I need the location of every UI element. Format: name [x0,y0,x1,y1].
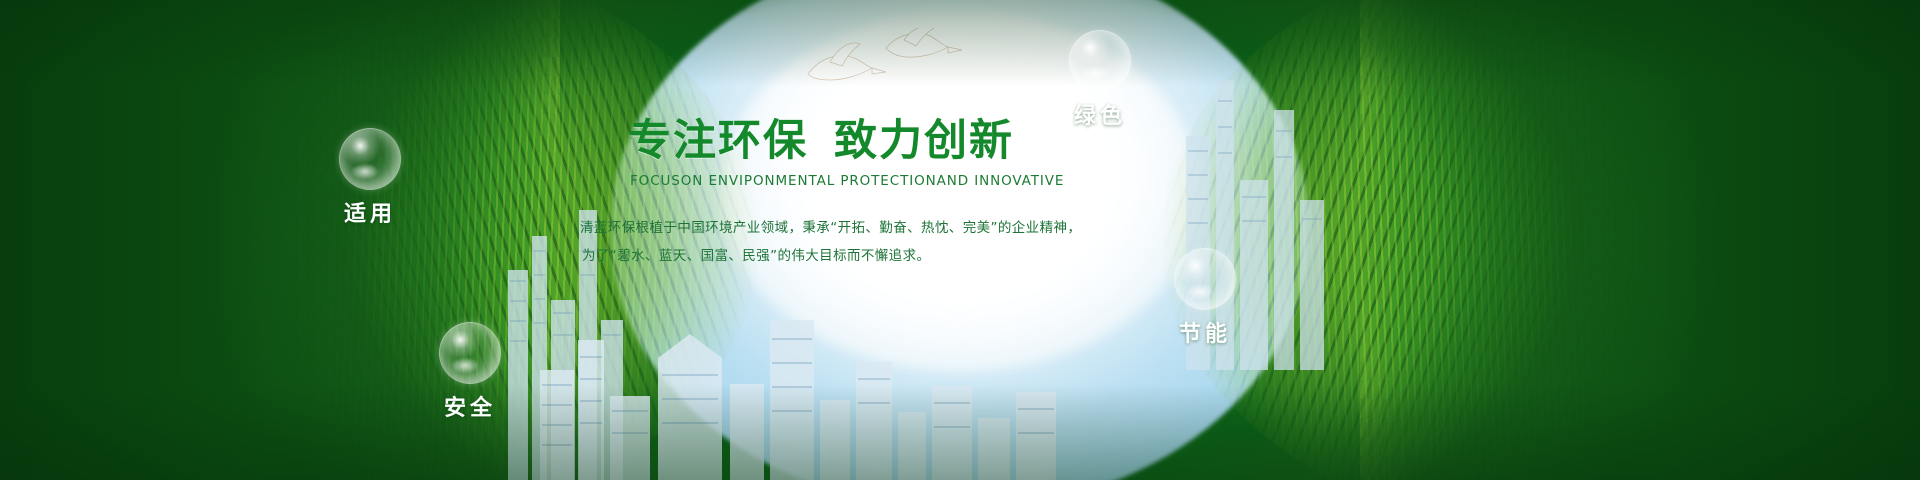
page-title: 专注环保致力创新 [580,118,1040,164]
paragraph-line-1: 清蓝环保根植于中国环境产业领域，秉承“开拓、勤奋、热忱、完美”的企业精神， [580,215,1040,243]
paragraph-line-2: 为了“碧水、蓝天、国富、民强”的伟大目标而不懈追求。 [580,243,1040,271]
bubble-icon [1069,30,1131,92]
bubble-icon [339,128,401,190]
hero-banner: 专注环保致力创新 FOCUSON ENVIPONMENTAL PROTECTIO… [0,0,1920,480]
feature-anquan[interactable]: 安全 [400,322,540,422]
feature-shiyong[interactable]: 适用 [300,128,440,228]
banner-paragraph: 清蓝环保根植于中国环境产业领域，秉承“开拓、勤奋、热忱、完美”的企业精神， 为了… [580,215,1040,270]
city-skyline-center [540,300,1060,480]
headline-part-1: 专注环保 [628,116,808,166]
banner-copy: 专注环保致力创新 FOCUSON ENVIPONMENTAL PROTECTIO… [580,118,1040,271]
feature-lvse[interactable]: 绿色 [1030,30,1170,130]
feature-label: 安全 [400,390,540,422]
feature-label: 适用 [300,196,440,228]
bubble-icon [439,322,501,384]
feature-label: 节能 [1135,316,1275,348]
doves-icon [800,28,970,108]
bubble-icon [1174,248,1236,310]
feature-label: 绿色 [1030,98,1170,130]
headline-part-2: 致力创新 [834,116,1014,166]
page-subtitle: FOCUSON ENVIPONMENTAL PROTECTIONAND INNO… [580,173,1040,189]
feature-jieneng[interactable]: 节能 [1135,248,1275,348]
